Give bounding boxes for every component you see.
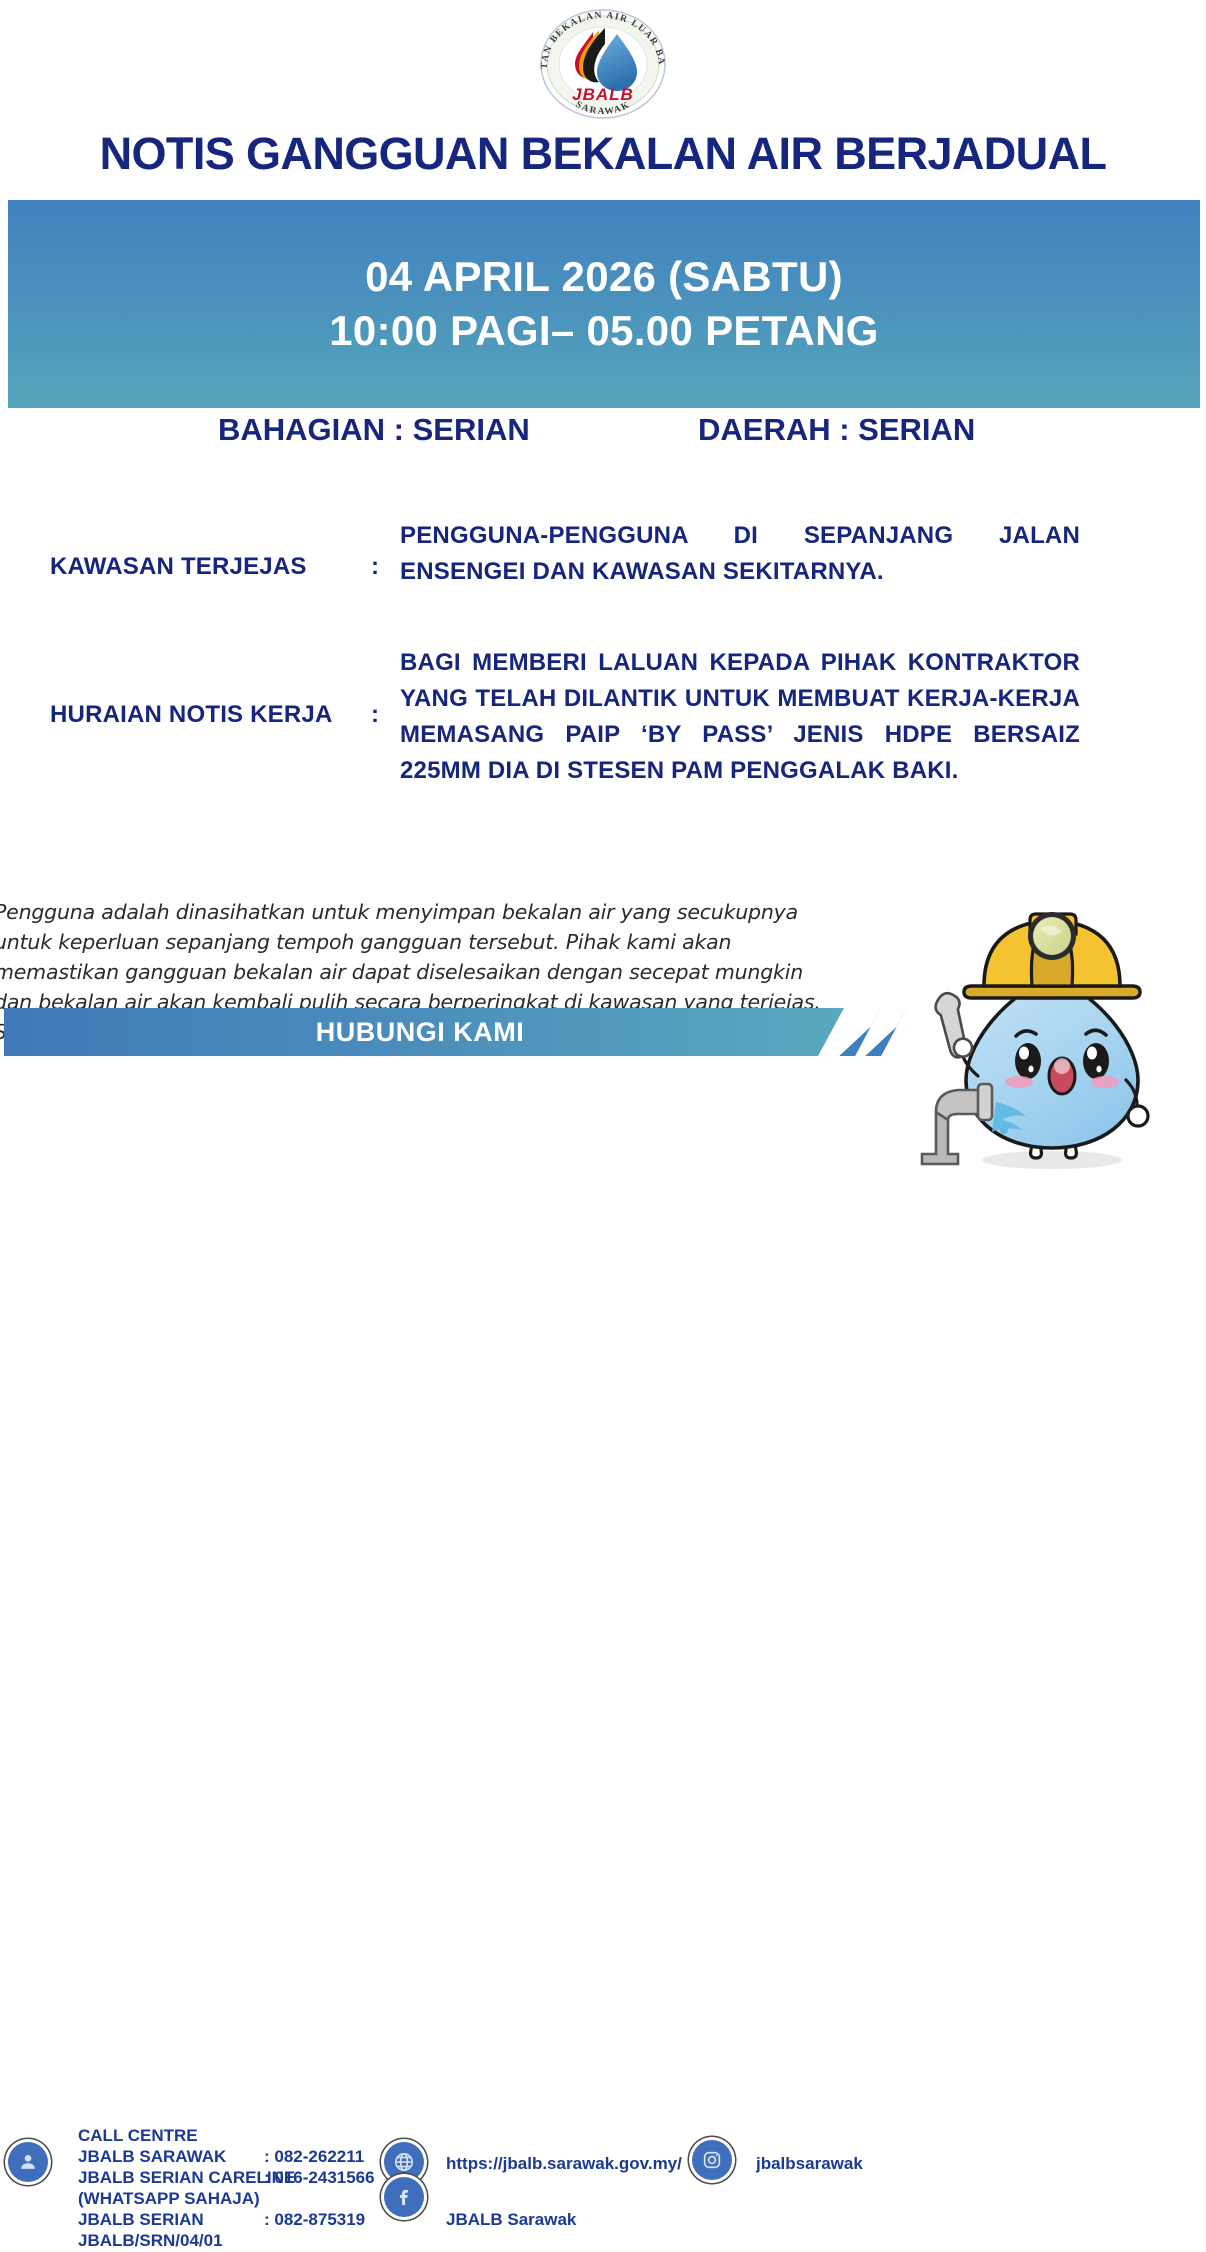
daerah-label: DAERAH : SERIAN: [698, 412, 975, 448]
region-row: BAHAGIAN : SERIAN DAERAH : SERIAN: [0, 412, 1206, 452]
facebook-glyph: [393, 2186, 415, 2208]
facebook-handle[interactable]: JBALB Sarawak: [446, 2210, 576, 2230]
website-url[interactable]: https://jbalb.sarawak.gov.my/: [446, 2154, 682, 2174]
contact-value[interactable]: : 082-875319: [264, 2210, 365, 2230]
contact-name: JBALB SERIAN: [78, 2210, 204, 2230]
notice-poster: JABATAN BEKALAN AIR LUAR BANDAR SARAWAK …: [0, 0, 1206, 1182]
detail-label: HURAIAN NOTIS KERJA: [50, 701, 332, 729]
detail-label: KAWASAN TERJEJAS: [50, 553, 307, 581]
jbalb-logo-icon: JABATAN BEKALAN AIR LUAR BANDAR SARAWAK …: [525, 8, 681, 120]
person-glyph: [17, 2151, 39, 2173]
reference-code: JBALB/SRN/04/01: [78, 2231, 223, 2251]
water-droplet-mascot: [900, 868, 1200, 1182]
contact-note: (WHATSAPP SAHAJA): [78, 2189, 260, 2209]
date-time-band: 04 APRIL 2026 (SABTU) 10:00 PAGI– 05.00 …: [8, 200, 1200, 408]
contact-value[interactable]: : 016-2431566: [264, 2168, 375, 2188]
detail-value: PENGGUNA-PENGGUNA DI SEPANJANG JALAN ENS…: [400, 518, 1080, 590]
jbalb-logo: JABATAN BEKALAN AIR LUAR BANDAR SARAWAK …: [525, 8, 681, 120]
call-centre-heading: CALL CENTRE: [78, 2126, 198, 2146]
detail-separator: :: [371, 553, 379, 581]
instagram-icon[interactable]: [692, 2140, 732, 2180]
svg-text:JBALB: JBALB: [572, 85, 634, 104]
contact-name: JBALB SARAWAK: [78, 2147, 226, 2167]
detail-separator: :: [371, 701, 379, 729]
person-icon: [8, 2142, 48, 2182]
outage-time: 10:00 PAGI– 05.00 PETANG: [329, 307, 879, 355]
bahagian-label: BAHAGIAN : SERIAN: [218, 412, 530, 448]
instagram-handle[interactable]: jbalbsarawak: [756, 2154, 863, 2174]
contact-banner-title: HUBUNGI KAMI: [0, 1008, 840, 1056]
instagram-glyph: [701, 2149, 723, 2171]
facebook-icon[interactable]: [384, 2177, 424, 2217]
contact-value[interactable]: : 082-262211: [264, 2147, 364, 2167]
contact-name: JBALB SERIAN CARELINE: [78, 2168, 295, 2188]
contact-banner: HUBUNGI KAMI: [0, 1008, 900, 1056]
globe-icon[interactable]: [384, 2142, 424, 2182]
jbalb-logo-container: JABATAN BEKALAN AIR LUAR BANDAR SARAWAK …: [0, 8, 1206, 120]
page-title: NOTIS GANGGUAN BEKALAN AIR BERJADUAL: [0, 128, 1206, 180]
mascot-illustration: [900, 868, 1200, 1182]
detail-value: BAGI MEMBERI LALUAN KEPADA PIHAK KONTRAK…: [400, 645, 1080, 789]
outage-date: 04 APRIL 2026 (SABTU): [365, 253, 843, 301]
globe-glyph: [392, 2150, 416, 2174]
